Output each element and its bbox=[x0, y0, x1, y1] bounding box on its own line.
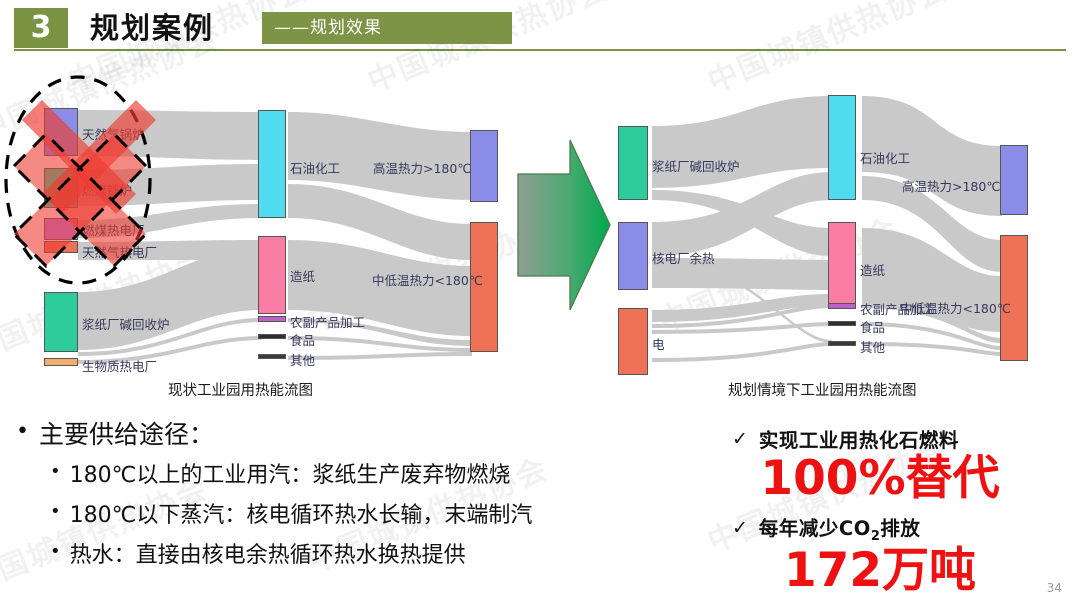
bullet-marker-icon: • bbox=[50, 499, 61, 524]
bullet-sub-1-text: 180℃以上的工业用汽：浆纸生产废弃物燃烧 bbox=[70, 459, 511, 492]
node-label-papermaking: 造纸 bbox=[290, 266, 315, 285]
result-1-value: 100%替代 bbox=[690, 454, 1070, 503]
caption-planned-diagram: 规划情境下工业园用热能流图 bbox=[728, 379, 917, 400]
node-label-high-temp-heat: 高温热力>180℃ bbox=[373, 158, 471, 177]
caption-current-diagram: 现状工业园用热能流图 bbox=[168, 379, 313, 400]
node-papermaking bbox=[258, 236, 286, 314]
result-2-label-a: 每年减少CO bbox=[759, 517, 871, 540]
node-label-coal-chp: 燃煤热电厂 bbox=[82, 220, 145, 239]
result-2-value: 172万吨 bbox=[690, 546, 1070, 595]
header-divider bbox=[14, 49, 1066, 51]
bullet-sub-2-text: 180℃以下蒸汽：核电循环热水长输，末端制汽 bbox=[70, 499, 533, 532]
node-gas-boiler bbox=[44, 108, 78, 156]
result-item-1: ✓ 实现工业用热化石燃料 bbox=[690, 424, 1070, 453]
results-panel: ✓ 实现工业用热化石燃料 100%替代 ✓ 每年减少CO2排放 172万吨 bbox=[690, 424, 1070, 596]
result-1-label: 实现工业用热化石燃料 bbox=[759, 424, 959, 453]
node-label-petrochemical: 石油化工 bbox=[860, 148, 910, 167]
bullet-sub-1: • 180℃以上的工业用汽：浆纸生产废弃物燃烧 bbox=[50, 459, 676, 492]
node-petrochemical bbox=[258, 110, 286, 218]
transition-arrow bbox=[512, 134, 616, 316]
node-label-food: 食品 bbox=[290, 330, 315, 349]
node-label-petrochemical: 石油化工 bbox=[290, 158, 340, 177]
bullet-marker-icon: • bbox=[50, 459, 61, 484]
node-agri-processing bbox=[828, 303, 856, 309]
node-label-biomass-chp: 生物质热电厂 bbox=[82, 356, 157, 375]
page-number: 34 bbox=[1047, 581, 1062, 595]
node-other bbox=[828, 341, 856, 346]
bullet-sub-3: • 热水：直接由核电余热循环热水换热提供 bbox=[50, 539, 676, 572]
bullet-sub-3-text: 热水：直接由核电余热循环热水换热提供 bbox=[70, 539, 466, 572]
node-label-pulp-recovery: 浆纸厂碱回收炉 bbox=[652, 156, 740, 175]
node-label-other: 其他 bbox=[860, 337, 885, 356]
node-coal-boiler bbox=[44, 168, 78, 208]
result-2-label-sub: 2 bbox=[871, 529, 881, 544]
bullet-marker-icon: • bbox=[50, 539, 61, 564]
node-other bbox=[258, 354, 286, 359]
bullet-sub-2: • 180℃以下蒸汽：核电循环热水长输，末端制汽 bbox=[50, 499, 676, 532]
node-electricity bbox=[618, 308, 648, 375]
node-food bbox=[828, 321, 856, 326]
node-label-nuclear-waste-heat: 核电厂余热 bbox=[652, 248, 715, 267]
node-food bbox=[258, 334, 286, 339]
node-label-gas-boiler: 天然气锅炉 bbox=[82, 124, 145, 143]
sankey-current-flows bbox=[0, 60, 520, 380]
slide: 中国城镇供热协会 中国城镇供热协会 中国城镇供热协会 中国城镇供热协会 中国城镇… bbox=[0, 0, 1080, 608]
node-label-papermaking: 造纸 bbox=[860, 260, 885, 279]
bullet-main: • 主要供给途径： bbox=[16, 418, 676, 452]
node-pulp-recovery bbox=[44, 292, 78, 352]
node-high-temp-heat bbox=[1000, 145, 1028, 215]
node-label-low-temp-heat: 中低温热力<180℃ bbox=[372, 270, 483, 289]
node-high-temp-heat bbox=[470, 130, 498, 202]
slide-header: 3 规划案例 ——规划效果 bbox=[0, 8, 1080, 48]
bullet-marker-icon: • bbox=[16, 418, 29, 446]
result-2-label-b: 排放 bbox=[880, 517, 920, 540]
node-agri-processing bbox=[258, 316, 286, 322]
node-label-pulp-recovery: 浆纸厂碱回收炉 bbox=[82, 314, 170, 333]
sankey-current: 天然气锅炉 燃煤锅炉 燃煤热电厂 天然气热电厂 浆纸厂碱回收炉 生物质热电厂 石… bbox=[0, 60, 520, 380]
node-gas-chp bbox=[44, 241, 78, 253]
bullet-list: • 主要供给途径： • 180℃以上的工业用汽：浆纸生产废弃物燃烧 • 180℃… bbox=[16, 418, 676, 572]
node-biomass-chp bbox=[44, 358, 78, 366]
check-icon: ✓ bbox=[732, 428, 748, 450]
page-title: 规划案例 bbox=[90, 7, 214, 47]
sankey-planned: 浆纸厂碱回收炉 核电厂余热 电 石油化工 造纸 农副产品加工 食品 其他 高温热… bbox=[600, 60, 1080, 380]
node-pulp-recovery bbox=[618, 126, 648, 200]
node-label-other: 其他 bbox=[290, 350, 315, 369]
node-nuclear-waste-heat bbox=[618, 222, 648, 290]
result-item-2: ✓ 每年减少CO2排放 bbox=[690, 512, 1070, 544]
section-number-badge: 3 bbox=[14, 8, 68, 48]
check-icon: ✓ bbox=[732, 517, 748, 539]
node-label-agri-processing: 农副产品加工 bbox=[290, 312, 365, 331]
node-label-electricity: 电 bbox=[652, 334, 665, 353]
node-coal-chp bbox=[44, 218, 78, 240]
node-petrochemical bbox=[828, 95, 856, 200]
result-2-label: 每年减少CO2排放 bbox=[759, 512, 920, 544]
node-label-food: 食品 bbox=[860, 317, 885, 336]
node-label-coal-boiler: 燃煤锅炉 bbox=[82, 180, 132, 199]
bullet-main-text: 主要供给途径： bbox=[39, 418, 214, 452]
node-label-low-temp-heat: 中低温热力<180℃ bbox=[900, 298, 1011, 317]
node-label-gas-chp: 天然气热电厂 bbox=[82, 242, 157, 261]
node-papermaking bbox=[828, 222, 856, 306]
node-label-high-temp-heat: 高温热力>180℃ bbox=[902, 176, 1000, 195]
page-subtitle: ——规划效果 bbox=[274, 12, 382, 44]
